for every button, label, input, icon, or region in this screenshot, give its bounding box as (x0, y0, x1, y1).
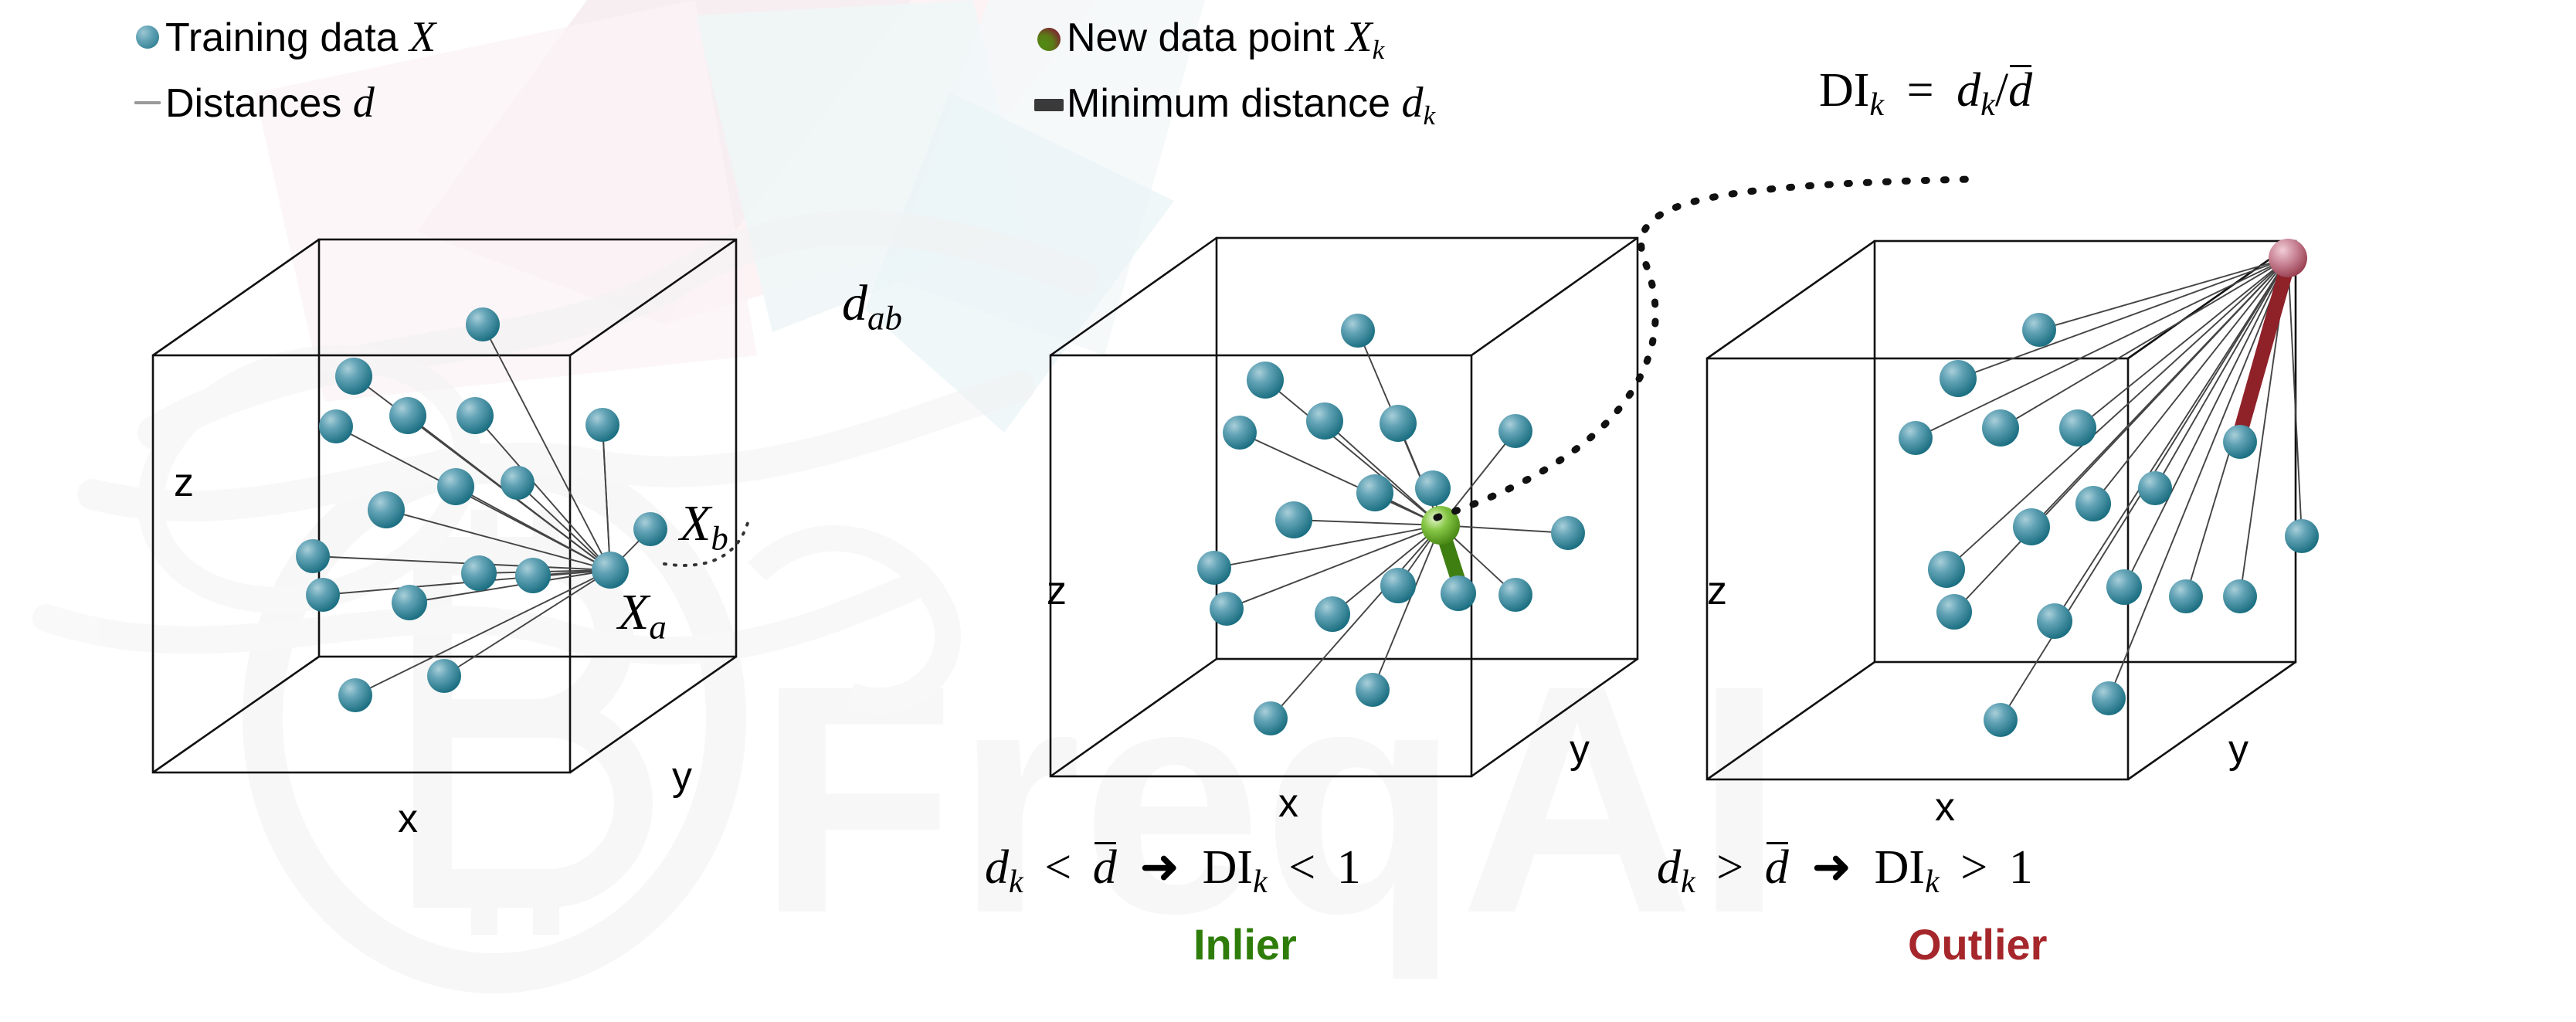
di-formula-equals: = (1896, 64, 1945, 117)
panel-outlier-axis-x: x (1935, 784, 1955, 830)
panel-training-axis-x: x (398, 796, 418, 842)
di-formula-numerator-sub: k (1980, 87, 1995, 123)
panel-inlier-axis-x: x (1278, 780, 1298, 827)
green-red-sphere-dot-icon (1031, 28, 1067, 51)
legend-label-minimum-distance: Minimum distance (1067, 81, 1390, 126)
di-formula-lhs-sub: k (1869, 87, 1884, 123)
teal-sphere-dot-icon (130, 25, 165, 49)
caption-inlier: dk < d ➜ DIk < 1 (985, 838, 1361, 901)
verdict-inlier: Inlier (1193, 919, 1297, 969)
panel-training-label-point-b: Xb (680, 494, 728, 559)
legend-symbol-minimum-distance-sub: k (1423, 100, 1435, 131)
panel-training-label-distance-ab: dab (842, 274, 902, 338)
legend-item-distances: Distances d (130, 81, 375, 124)
panel-training-axis-z: z (174, 460, 194, 506)
panel-training-cube (131, 216, 873, 803)
caption-outlier: dk > d ➜ DIk > 1 (1657, 838, 2033, 901)
di-formula-lhs: DI (1819, 64, 1869, 117)
legend-symbol-new-data-point-sub: k (1373, 34, 1385, 65)
panel-training-label-point-a: Xa (618, 583, 667, 647)
legend-item-training-data: Training data X (130, 15, 436, 59)
legend-label-new-data-point: New data point (1067, 15, 1335, 60)
di-formula-slash: / (1995, 64, 2008, 117)
legend-item-minimum-distance: Minimum distance dk (1031, 81, 1435, 129)
di-formula-numerator: d (1957, 64, 1980, 117)
di-formula-denominator: d (2008, 63, 2032, 118)
legend-label-training-data: Training data (165, 15, 399, 60)
legend-item-new-data-point: New data point Xk (1031, 15, 1384, 63)
new-data-point-outlier (2269, 239, 2307, 277)
minimum-distance-line-outlier (2242, 264, 2288, 428)
legend-symbol-training-data: X (409, 13, 436, 61)
panel-outlier-axis-z: z (1707, 568, 1727, 614)
thick-dash-icon (1031, 99, 1067, 111)
legend-label-distances: Distances (165, 81, 341, 126)
legend-symbol-new-data-point: X (1346, 13, 1372, 61)
legend-symbol-distances: d (353, 79, 375, 127)
panel-training-axis-y: y (672, 753, 692, 800)
verdict-outlier: Outlier (1908, 919, 2047, 969)
di-formula: DIk = dk/d (1819, 63, 2032, 124)
legend: Training data X Distances d New data poi… (0, 0, 2576, 178)
panel-inlier-axis-y: y (1570, 726, 1590, 772)
thin-dash-icon (130, 101, 165, 104)
legend-symbol-minimum-distance: d (1401, 79, 1423, 127)
panel-inlier-axis-z: z (1047, 568, 1067, 614)
panel-outlier-axis-y: y (2228, 726, 2248, 772)
